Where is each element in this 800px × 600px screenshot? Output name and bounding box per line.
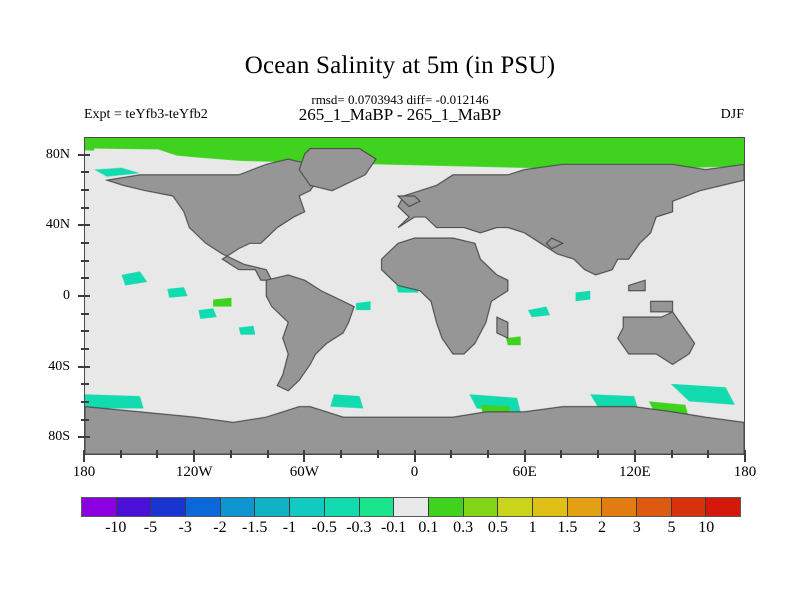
y-tick-minor (81, 242, 89, 244)
y-tick-minor (81, 260, 89, 262)
x-tick-minor (450, 450, 452, 458)
experiment-label: Expt = teYfb3-teYfb2 (84, 107, 208, 123)
x-tick-major (634, 450, 636, 462)
y-tick-major (78, 154, 90, 156)
y-tick-minor (81, 277, 89, 279)
x-axis-label: 180 (710, 464, 780, 481)
colorbar (81, 497, 741, 517)
x-tick-major (193, 450, 195, 462)
y-tick-major (78, 436, 90, 438)
x-tick-major (303, 450, 305, 462)
x-axis-label: 0 (380, 464, 450, 481)
colorbar-swatch (360, 498, 395, 516)
colorbar-swatch (186, 498, 221, 516)
x-tick-minor (156, 450, 158, 458)
y-tick-minor (81, 419, 89, 421)
x-tick-major (83, 450, 85, 462)
x-tick-minor (707, 450, 709, 458)
colorbar-swatch (82, 498, 117, 516)
colorbar-swatch (255, 498, 290, 516)
y-tick-minor (81, 313, 89, 315)
y-axis-label: 80N (10, 147, 70, 163)
season-label: DJF (721, 107, 744, 123)
colorbar-swatch (602, 498, 637, 516)
colorbar-swatch (568, 498, 603, 516)
x-tick-minor (597, 450, 599, 458)
x-axis-label: 120E (600, 464, 670, 481)
x-tick-minor (560, 450, 562, 458)
colorbar-swatch (117, 498, 152, 516)
colorbar-swatch (637, 498, 672, 516)
y-axis-label: 80S (10, 429, 70, 445)
x-axis-label: 120W (159, 464, 229, 481)
colorbar-swatch (464, 498, 499, 516)
y-tick-major (78, 295, 90, 297)
y-axis-label: 0 (10, 288, 70, 304)
colorbar-swatch (498, 498, 533, 516)
y-tick-minor (81, 171, 89, 173)
x-tick-minor (340, 450, 342, 458)
x-tick-major (744, 450, 746, 462)
x-tick-major (414, 450, 416, 462)
x-axis-label: 180 (49, 464, 119, 481)
x-axis-label: 60E (490, 464, 560, 481)
x-tick-minor (120, 450, 122, 458)
y-tick-major (78, 366, 90, 368)
colorbar-tick-label: 10 (679, 519, 733, 537)
colorbar-swatches (81, 497, 741, 517)
colorbar-swatch (429, 498, 464, 516)
colorbar-swatch (151, 498, 186, 516)
y-tick-minor (81, 401, 89, 403)
x-tick-minor (487, 450, 489, 458)
figure-root: Ocean Salinity at 5m (in PSU) rmsd= 0.07… (0, 0, 800, 600)
x-tick-major (524, 450, 526, 462)
y-axis-label: 40N (10, 217, 70, 233)
colorbar-swatch (706, 498, 740, 516)
colorbar-swatch (221, 498, 256, 516)
map-canvas (85, 138, 744, 454)
y-axis-label: 40S (10, 359, 70, 375)
colorbar-swatch (290, 498, 325, 516)
x-tick-minor (671, 450, 673, 458)
colorbar-swatch (672, 498, 707, 516)
x-axis-label: 60W (269, 464, 339, 481)
y-tick-minor (81, 330, 89, 332)
page-title: Ocean Salinity at 5m (in PSU) (0, 52, 800, 80)
x-tick-minor (230, 450, 232, 458)
y-tick-minor (81, 383, 89, 385)
y-tick-minor (81, 207, 89, 209)
colorbar-swatch (325, 498, 360, 516)
colorbar-swatch (394, 498, 429, 516)
x-tick-minor (267, 450, 269, 458)
y-tick-minor (81, 348, 89, 350)
x-tick-minor (377, 450, 379, 458)
colorbar-swatch (533, 498, 568, 516)
map-plot-area (84, 137, 745, 455)
y-tick-minor (81, 189, 89, 191)
y-tick-major (78, 224, 90, 226)
